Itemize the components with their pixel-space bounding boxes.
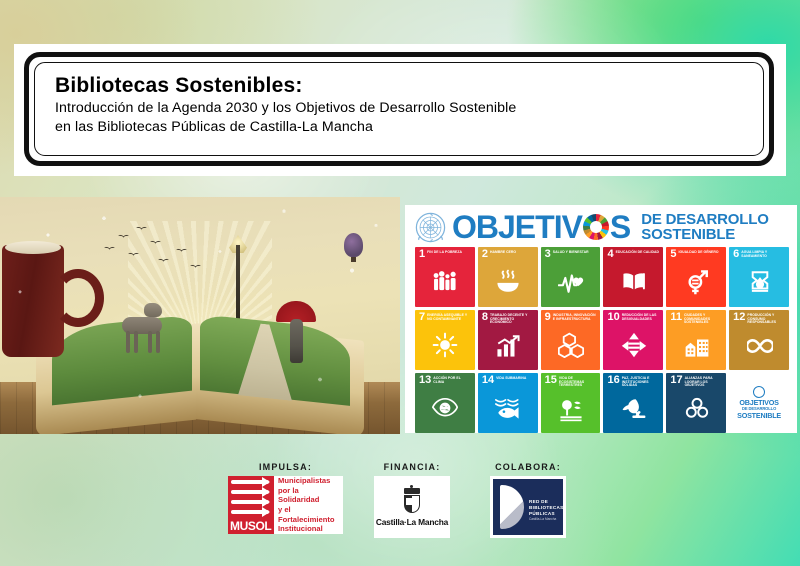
sdg-goal-13[interactable]: 13ACCIÓN POR EL CLIMA — [415, 373, 475, 433]
sdg-goal-title: AGUA LIMPIA Y SANEAMIENTO — [741, 250, 786, 259]
equal-arrows-icon — [607, 322, 660, 370]
rbp-sublabel: Castilla-La Mancha — [529, 518, 563, 522]
sdg-poster-panel: OBJETIV S DE DESARROLLO SOSTENIBLE 1FIN … — [405, 205, 797, 433]
sdg-tagline-line-1: DE DESARROLLO — [641, 212, 768, 227]
musol-tagline-line-4: Institucional — [278, 524, 340, 534]
sdg-goal-number: 9 — [545, 313, 551, 322]
poster-subtitle-line-2: en las Bibliotecas Públicas de Castilla-… — [55, 118, 747, 138]
sdg-goal-12[interactable]: 12PRODUCCIÓN Y CONSUMO RESPONSABLES — [729, 310, 789, 370]
sdg-goal-11[interactable]: 11CIUDADES Y COMUNIDADES SOSTENIBLES — [666, 310, 726, 370]
growth-chart-icon — [482, 325, 535, 369]
musol-arrows-icon — [231, 480, 271, 516]
sdg-wordmark: OBJETIV S — [452, 211, 630, 243]
sdg-goal-title: EDUCACIÓN DE CALIDAD — [616, 250, 659, 255]
sdg-goal-9[interactable]: 9INDUSTRIA, INNOVACIÓN E INFRAESTRUCTURA — [541, 310, 601, 370]
sdg-goal-title: TRABAJO DECENTE Y CRECIMIENTO ECONÓMICO — [490, 313, 535, 325]
sdg-goal-number: 7 — [419, 313, 425, 322]
sdg-goal-number: 17 — [670, 376, 682, 385]
sdg-goal-number: 14 — [482, 376, 494, 385]
sdg-goal-header: 3SALUD Y BIENESTAR — [545, 250, 598, 259]
sponsor-financia-label: FINANCIA: — [374, 462, 450, 472]
storybook-photo — [0, 197, 400, 434]
sdg-goal-number: 15 — [545, 376, 557, 385]
sdg-goal-title: ACCIÓN POR EL CLIMA — [433, 376, 472, 385]
sdg-goal-header: 2HAMBRE CERO — [482, 250, 535, 259]
sponsor-impulsa-label: IMPULSA: — [228, 462, 343, 472]
sdg-goal-header: 11CIUDADES Y COMUNIDADES SOSTENIBLES — [670, 313, 723, 325]
sdg-goal-header: 5IGUALDAD DE GÉNERO — [670, 250, 723, 259]
sdg-logo-tile: OBJETIVOSDE DESARROLLOSOSTENIBLE — [729, 373, 789, 433]
dove-gavel-icon — [607, 388, 660, 432]
water-drop-icon — [733, 259, 786, 306]
musol-logo: MUSOL Municipalistas por la Solidaridad … — [228, 476, 343, 534]
sdg-goal-header: 15VIDA DE ECOSISTEMAS TERRESTRES — [545, 376, 598, 388]
un-emblem-mini-icon — [753, 386, 765, 398]
water-droplets-overlay — [0, 197, 400, 434]
sdg-goal-header: 13ACCIÓN POR EL CLIMA — [419, 376, 472, 385]
sdg-goal-header: 6AGUA LIMPIA Y SANEAMIENTO — [733, 250, 786, 259]
sdg-goal-14[interactable]: 14VIDA SUBMARINA — [478, 373, 538, 433]
infinity-icon — [733, 325, 786, 369]
title-frame-outer: Bibliotecas Sostenibles: Introducción de… — [24, 52, 774, 166]
book-icon — [607, 259, 660, 307]
sdg-goal-number: 4 — [607, 250, 613, 259]
sdg-goal-number: 8 — [482, 313, 488, 322]
sdg-wordmark-suffix: S — [610, 211, 630, 243]
rbp-wordmark: RED DE BIBLIOTECAS PÚBLICAS Castilla-La … — [529, 499, 563, 522]
sdg-goal-grid: 1FIN DE LA POBREZA2HAMBRE CERO3SALUD Y B… — [405, 245, 797, 433]
sdg-wordmark-prefix: OBJETIV — [452, 211, 582, 243]
sdg-goal-header: 12PRODUCCIÓN Y CONSUMO RESPONSABLES — [733, 313, 786, 325]
sdg-header: OBJETIV S DE DESARROLLO SOSTENIBLE — [405, 205, 797, 245]
sdg-goal-7[interactable]: 7ENERGÍA ASEQUIBLE Y NO CONTAMINANTE — [415, 310, 475, 370]
city-icon — [670, 325, 723, 369]
sdg-goal-number: 11 — [670, 313, 682, 322]
un-emblem-icon — [415, 212, 446, 243]
sdg-goal-title: ALIANZAS PARA LOGRAR LOS OBJETIVOS — [685, 376, 724, 388]
poster-canvas: Bibliotecas Sostenibles: Introducción de… — [0, 0, 800, 566]
sdg-goal-title: INDUSTRIA, INNOVACIÓN E INFRAESTRUCTURA — [553, 313, 598, 322]
red-bibliotecas-logo: RED DE BIBLIOTECAS PÚBLICAS Castilla-La … — [490, 476, 566, 538]
fish-icon — [482, 385, 535, 432]
jccm-logo: Castilla·La Mancha — [374, 476, 450, 538]
sdg-goal-number: 16 — [607, 376, 619, 385]
musol-wordmark: MUSOL — [230, 520, 271, 532]
sdg-logo-line-3: SOSTENIBLE — [737, 412, 781, 419]
sdg-goal-header: 7ENERGÍA ASEQUIBLE Y NO CONTAMINANTE — [419, 313, 472, 322]
sdg-goal-10[interactable]: 10REDUCCIÓN DE LAS DESIGUALDADES — [603, 310, 663, 370]
sdg-goal-title: FIN DE LA POBREZA — [427, 250, 462, 255]
sponsor-colabora-label: COLABORA: — [490, 462, 566, 472]
sdg-goal-3[interactable]: 3SALUD Y BIENESTAR — [541, 247, 601, 307]
sdg-goal-number: 2 — [482, 250, 488, 259]
sdg-goal-header: 17ALIANZAS PARA LOGRAR LOS OBJETIVOS — [670, 376, 723, 388]
family-icon — [419, 259, 472, 306]
sdg-color-wheel-icon — [583, 214, 609, 240]
musol-tagline: Municipalistas por la Solidaridad y el F… — [274, 473, 343, 536]
musol-tagline-line-1: Municipalistas — [278, 476, 340, 486]
poster-subtitle-line-1: Introducción de la Agenda 2030 y los Obj… — [55, 99, 747, 119]
jccm-wordmark: Castilla·La Mancha — [376, 517, 448, 527]
sdg-goal-5[interactable]: 5IGUALDAD DE GÉNERO — [666, 247, 726, 307]
climate-eye-icon — [419, 385, 472, 432]
musol-tagline-line-3: y el Fortalecimiento — [278, 505, 340, 524]
sdg-goal-number: 5 — [670, 250, 676, 259]
sdg-goal-number: 3 — [545, 250, 551, 259]
sdg-goal-8[interactable]: 8TRABAJO DECENTE Y CRECIMIENTO ECONÓMICO — [478, 310, 538, 370]
sdg-tagline-line-2: SOSTENIBLE — [641, 227, 768, 242]
sdg-goal-number: 13 — [419, 376, 431, 385]
sponsor-colabora: COLABORA: RED DE BIBLIOTECAS PÚBLICAS Ca… — [490, 462, 566, 538]
sdg-goal-title: PAZ, JUSTICIA E INSTITUCIONES SÓLIDAS — [622, 376, 661, 388]
sdg-goal-header: 8TRABAJO DECENTE Y CRECIMIENTO ECONÓMICO — [482, 313, 535, 325]
sdg-goal-title: ENERGÍA ASEQUIBLE Y NO CONTAMINANTE — [427, 313, 472, 322]
sdg-goal-6[interactable]: 6AGUA LIMPIA Y SANEAMIENTO — [729, 247, 789, 307]
sdg-goal-title: VIDA DE ECOSISTEMAS TERRESTRES — [559, 376, 598, 388]
sdg-goal-header: 16PAZ, JUSTICIA E INSTITUCIONES SÓLIDAS — [607, 376, 660, 388]
cubes-icon — [545, 322, 598, 369]
sponsor-bar: IMPULSA: MUSOL Municipalistas por la Sol… — [0, 462, 800, 566]
sdg-goal-number: 12 — [733, 313, 745, 322]
sdg-logo-line-1: OBJETIVOS — [739, 399, 778, 406]
sdg-goal-title: VIDA SUBMARINA — [496, 376, 526, 381]
sponsor-impulsa: IMPULSA: MUSOL Municipalistas por la Sol… — [228, 462, 343, 534]
sdg-goal-number: 10 — [607, 313, 619, 322]
sdg-goal-15[interactable]: 15VIDA DE ECOSISTEMAS TERRESTRES — [541, 373, 601, 433]
sdg-goal-title: PRODUCCIÓN Y CONSUMO RESPONSABLES — [747, 313, 786, 325]
sdg-tagline: DE DESARROLLO SOSTENIBLE — [641, 212, 768, 243]
tree-birds-icon — [545, 388, 598, 432]
sdg-goal-title: HAMBRE CERO — [490, 250, 516, 255]
sdg-goal-title: REDUCCIÓN DE LAS DESIGUALDADES — [622, 313, 661, 322]
bowl-icon — [482, 259, 535, 306]
sdg-goal-number: 6 — [733, 250, 739, 259]
poster-title: Bibliotecas Sostenibles: — [55, 74, 747, 98]
sdg-goal-header: 14VIDA SUBMARINA — [482, 376, 535, 385]
sdg-goal-17[interactable]: 17ALIANZAS PARA LOGRAR LOS OBJETIVOS — [666, 373, 726, 433]
sdg-goal-title: CIUDADES Y COMUNIDADES SOSTENIBLES — [684, 313, 723, 325]
musol-tagline-line-2: por la Solidaridad — [278, 486, 340, 505]
rbp-d-mark-icon — [500, 485, 524, 529]
sdg-goal-4[interactable]: 4EDUCACIÓN DE CALIDAD — [603, 247, 663, 307]
sdg-goal-header: 9INDUSTRIA, INNOVACIÓN E INFRAESTRUCTURA — [545, 313, 598, 322]
sun-icon — [419, 322, 472, 369]
sdg-goal-header: 10REDUCCIÓN DE LAS DESIGUALDADES — [607, 313, 660, 322]
heartbeat-icon — [545, 259, 598, 306]
jccm-coat-of-arms-icon — [401, 488, 423, 514]
sdg-goal-1[interactable]: 1FIN DE LA POBREZA — [415, 247, 475, 307]
sdg-goal-number: 1 — [419, 250, 425, 259]
sdg-goal-title: SALUD Y BIENESTAR — [553, 250, 589, 255]
sdg-goal-16[interactable]: 16PAZ, JUSTICIA E INSTITUCIONES SÓLIDAS — [603, 373, 663, 433]
title-frame-inner: Bibliotecas Sostenibles: Introducción de… — [34, 62, 764, 156]
sdg-goal-header: 1FIN DE LA POBREZA — [419, 250, 472, 259]
circles-icon — [670, 388, 723, 432]
sponsor-financia: FINANCIA: Castilla·La Mancha — [374, 462, 450, 538]
sdg-goal-title: IGUALDAD DE GÉNERO — [678, 250, 718, 255]
gender-icon — [670, 259, 723, 306]
sdg-goal-2[interactable]: 2HAMBRE CERO — [478, 247, 538, 307]
musol-mark-icon: MUSOL — [228, 476, 274, 534]
sdg-goal-header: 4EDUCACIÓN DE CALIDAD — [607, 250, 660, 259]
